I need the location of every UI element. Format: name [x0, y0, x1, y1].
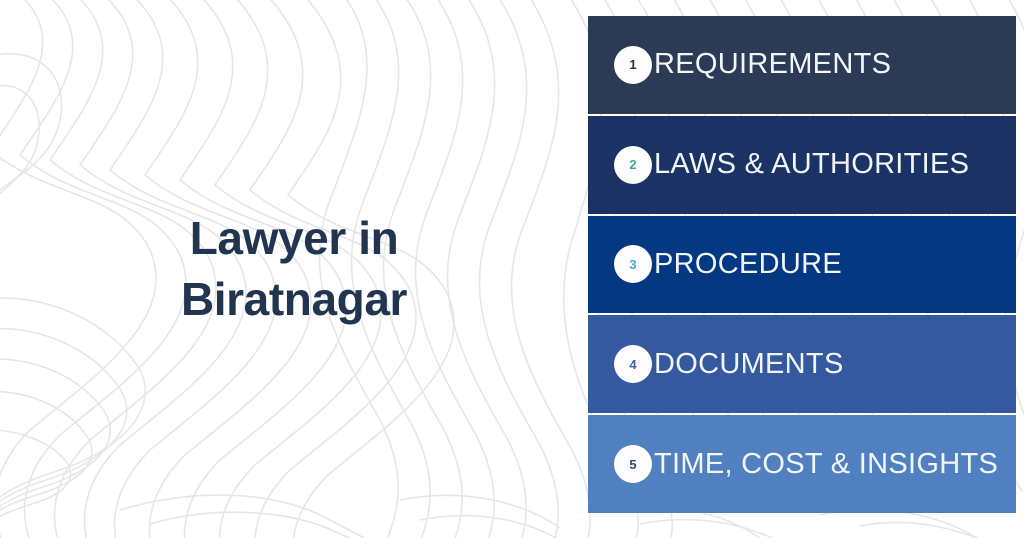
slide-canvas: Lawyer in Biratnagar 1 REQUIREMENTS 2 LA…: [0, 0, 1024, 538]
step-row-5[interactable]: 5 TIME, COST & INSIGHTS: [588, 415, 1016, 513]
step-row-4[interactable]: 4 DOCUMENTS: [588, 315, 1016, 413]
steps-list: 1 REQUIREMENTS 2 LAWS & AUTHORITIES 3 PR…: [588, 16, 1016, 513]
step-label-requirements: REQUIREMENTS: [654, 48, 891, 81]
page-title: Lawyer in Biratnagar: [181, 208, 407, 329]
step-row-2[interactable]: 2 LAWS & AUTHORITIES: [588, 116, 1016, 214]
step-number-2: 2: [629, 157, 636, 172]
step-label-time-cost-insights: TIME, COST & INSIGHTS: [654, 448, 998, 481]
step-number-4: 4: [629, 357, 636, 372]
step-label-procedure: PROCEDURE: [654, 248, 842, 281]
step-badge-5: 5: [614, 445, 652, 483]
step-badge-4: 4: [614, 345, 652, 383]
step-label-documents: DOCUMENTS: [654, 348, 844, 381]
step-number-5: 5: [629, 457, 636, 472]
step-badge-2: 2: [614, 146, 652, 184]
title-block: Lawyer in Biratnagar: [0, 0, 588, 538]
step-number-3: 3: [629, 257, 636, 272]
step-label-laws-authorities: LAWS & AUTHORITIES: [654, 148, 969, 181]
step-badge-1: 1: [614, 46, 652, 84]
step-row-1[interactable]: 1 REQUIREMENTS: [588, 16, 1016, 114]
step-row-3[interactable]: 3 PROCEDURE: [588, 216, 1016, 314]
step-badge-3: 3: [614, 245, 652, 283]
step-number-1: 1: [629, 57, 636, 72]
